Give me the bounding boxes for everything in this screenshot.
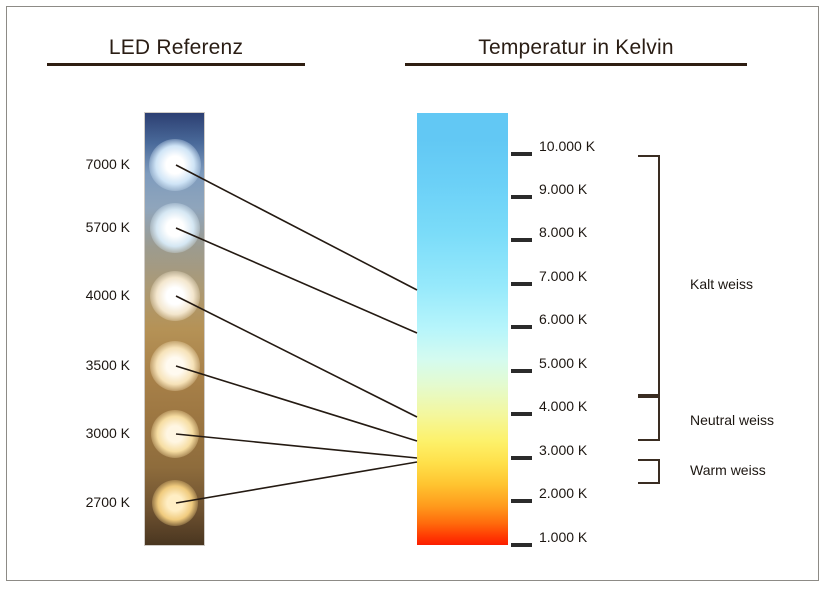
scale-tick — [511, 412, 532, 416]
scale-tick — [511, 238, 532, 242]
right-title-underline — [405, 63, 747, 66]
led-kelvin-label: 3500 K — [86, 357, 130, 373]
scale-tick-label: 6.000 K — [539, 311, 587, 327]
scale-tick — [511, 456, 532, 460]
led-glow — [151, 410, 199, 458]
scale-tick-label: 2.000 K — [539, 485, 587, 501]
scale-tick-label: 3.000 K — [539, 442, 587, 458]
led-glow — [152, 480, 198, 526]
led-label-column: 7000 K5700 K4000 K3500 K3000 K2700 K — [0, 0, 130, 589]
scale-tick-label: 9.000 K — [539, 181, 587, 197]
right-panel-title: Temperatur in Kelvin — [405, 36, 747, 60]
scale-tick — [511, 499, 532, 503]
diagram-page: LED Referenz Temperatur in Kelvin 7000 K… — [0, 0, 827, 589]
led-glow — [149, 139, 201, 191]
category-bracket — [638, 396, 660, 441]
category-label: Neutral weiss — [690, 412, 774, 428]
led-glow — [150, 271, 200, 321]
scale-tick — [511, 282, 532, 286]
scale-tick — [511, 543, 532, 547]
scale-tick-label: 8.000 K — [539, 224, 587, 240]
kelvin-gradient-bar — [417, 113, 508, 545]
category-bracket — [638, 459, 660, 484]
led-glow — [150, 203, 200, 253]
led-kelvin-label: 3000 K — [86, 425, 130, 441]
led-kelvin-label: 4000 K — [86, 287, 130, 303]
scale-tick-label: 4.000 K — [539, 398, 587, 414]
led-kelvin-label: 2700 K — [86, 494, 130, 510]
scale-tick-label: 7.000 K — [539, 268, 587, 284]
scale-tick — [511, 325, 532, 329]
scale-tick-label: 1.000 K — [539, 529, 587, 545]
scale-tick — [511, 195, 532, 199]
category-label: Kalt weiss — [690, 276, 753, 292]
led-reference-strip — [145, 113, 204, 545]
led-kelvin-label: 5700 K — [86, 219, 130, 235]
led-glow — [150, 341, 200, 391]
category-label: Warm weiss — [690, 462, 766, 478]
scale-tick-label: 5.000 K — [539, 355, 587, 371]
scale-tick — [511, 369, 532, 373]
category-bracket — [638, 155, 660, 396]
scale-tick — [511, 152, 532, 156]
led-kelvin-label: 7000 K — [86, 156, 130, 172]
scale-tick-label: 10.000 K — [539, 138, 595, 154]
